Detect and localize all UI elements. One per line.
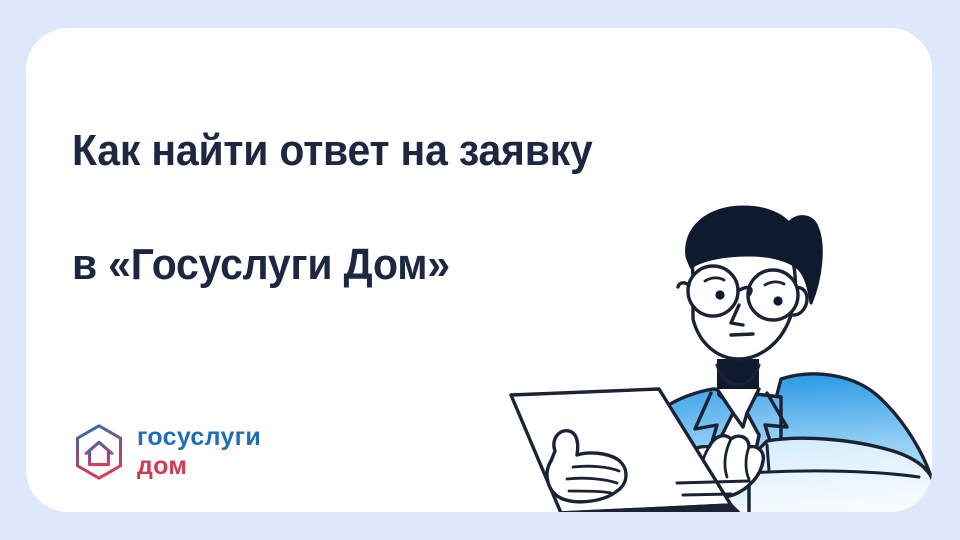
hexagon-house-icon bbox=[72, 423, 126, 481]
man-at-laptop-illustration bbox=[481, 183, 932, 512]
page-title-line-1: Как найти ответ на заявку bbox=[72, 122, 686, 179]
banner-canvas: Как найти ответ на заявку в «Госуслуги Д… bbox=[0, 0, 960, 540]
white-content-card: Как найти ответ на заявку в «Госуслуги Д… bbox=[26, 28, 932, 512]
logo-word-dom: дом bbox=[137, 454, 261, 479]
gosuslugi-dom-logo: госуслуги дом bbox=[72, 423, 261, 481]
logo-wordmark: госуслуги дом bbox=[137, 425, 261, 479]
logo-word-gosuslugi: госуслуги bbox=[137, 425, 261, 450]
